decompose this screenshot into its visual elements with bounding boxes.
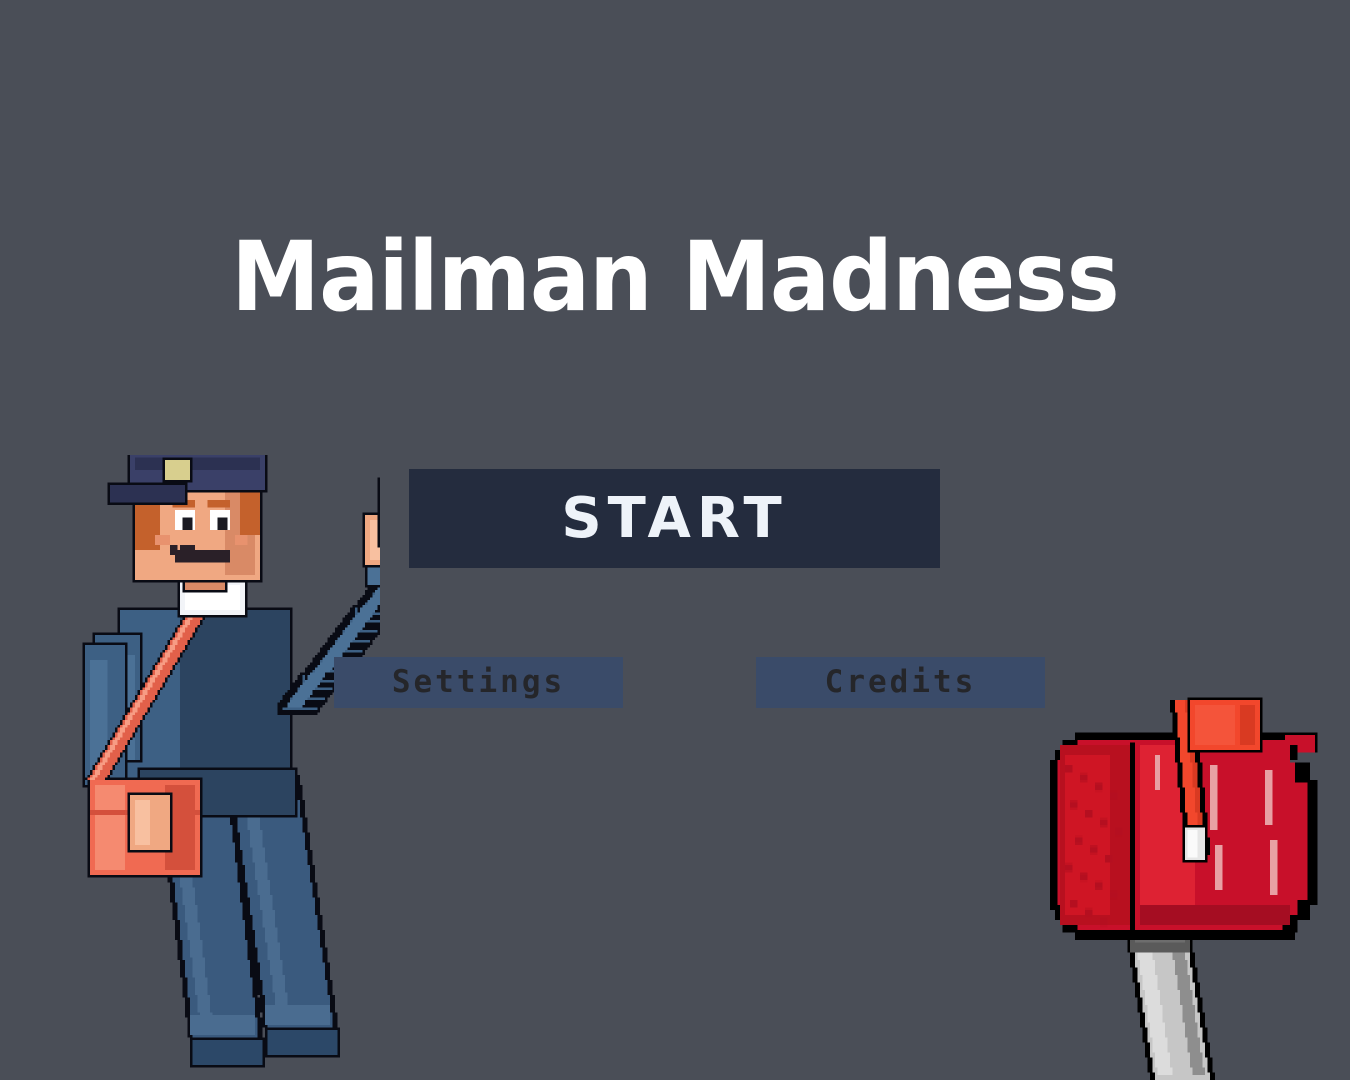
mailbox-art: [1020, 690, 1340, 1080]
game-title-screen: Mailman Madness START Settings Credits: [0, 0, 1350, 1080]
settings-button-label: Settings: [392, 667, 565, 698]
page-title: Mailman Madness: [47, 222, 1303, 332]
start-button[interactable]: START: [409, 469, 940, 568]
settings-button[interactable]: Settings: [334, 657, 623, 708]
start-button-label: START: [561, 491, 787, 547]
credits-button[interactable]: Credits: [756, 657, 1045, 708]
credits-button-label: Credits: [825, 667, 977, 698]
mailman-character-art: [40, 455, 380, 1080]
